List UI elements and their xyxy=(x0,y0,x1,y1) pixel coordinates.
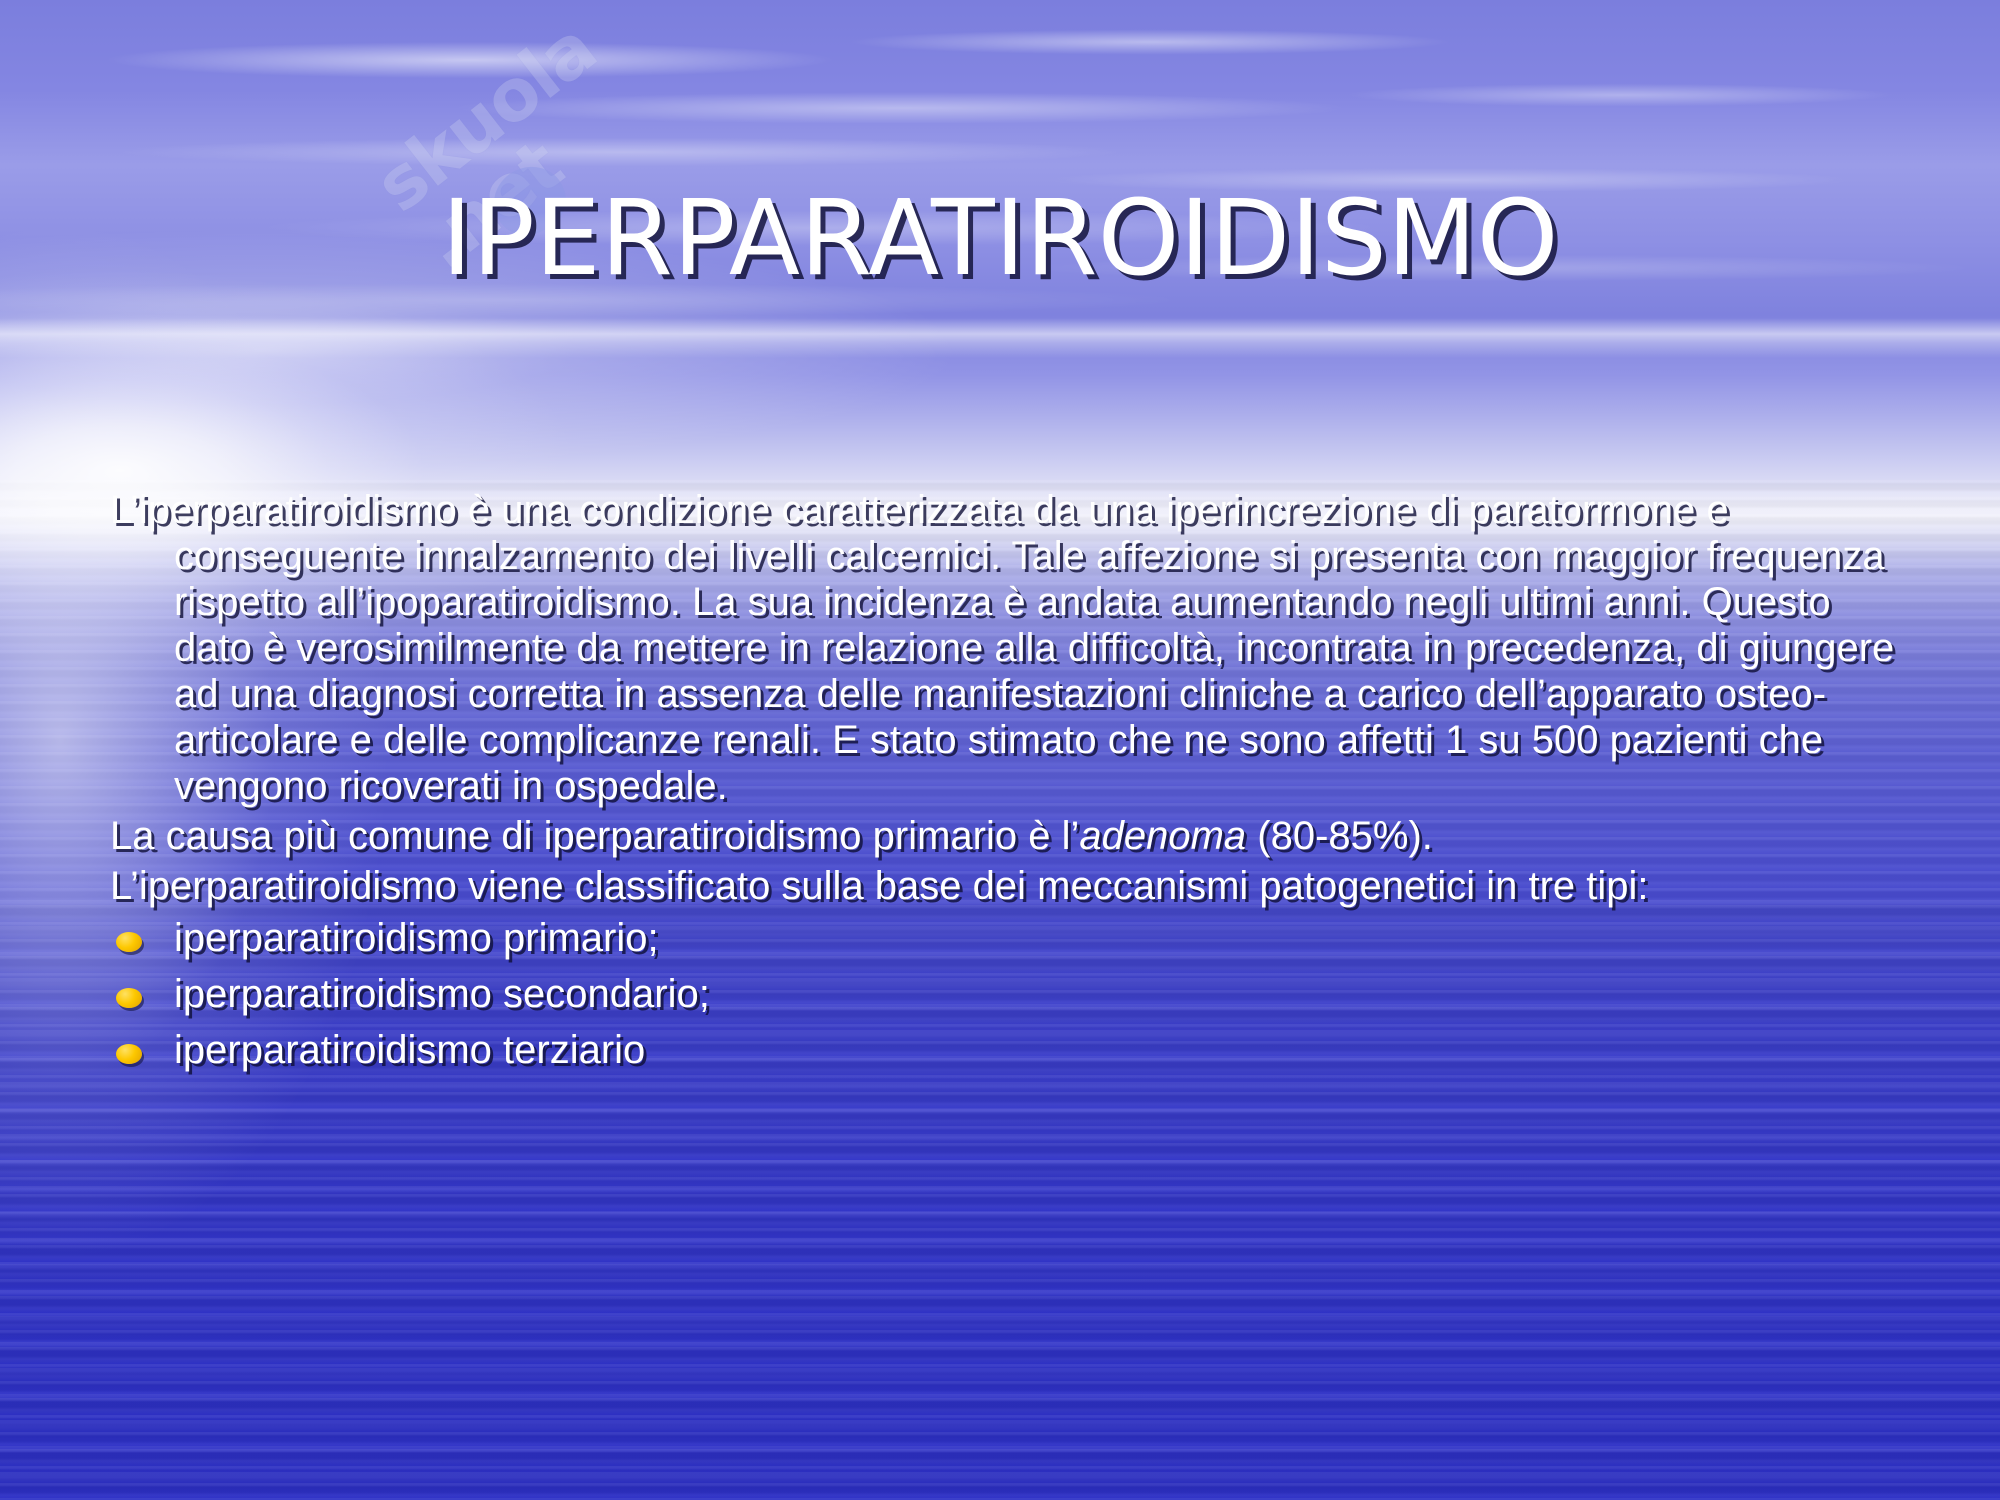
paragraph-classificazione: L’iperparatiroidismo viene classificato … xyxy=(110,863,1910,909)
paragraph-causa-prefix: La causa più comune di iperparatiroidism… xyxy=(110,814,1079,858)
bullet-list: iperparatiroidismo primario; iperparatir… xyxy=(110,915,1910,1073)
bullet-dot-icon xyxy=(116,932,142,952)
list-item-label: iperparatiroidismo primario; xyxy=(174,916,659,960)
list-item: iperparatiroidismo terziario xyxy=(110,1027,1910,1073)
list-item-label: iperparatiroidismo terziario xyxy=(174,1028,645,1072)
paragraph-causa-italic-term: adenoma xyxy=(1079,814,1246,858)
bullet-dot-icon xyxy=(116,988,142,1008)
bullet-dot-icon xyxy=(116,1044,142,1064)
slide-title: IPERPARATIROIDISMO xyxy=(0,182,2000,294)
paragraph-causa: La causa più comune di iperparatiroidism… xyxy=(110,813,1910,859)
presentation-slide: skuola .net IPERPARATIROIDISMO L’iperpar… xyxy=(0,0,2000,1500)
list-item: iperparatiroidismo secondario; xyxy=(110,971,1910,1017)
paragraph-causa-suffix: (80-85%). xyxy=(1246,814,1433,858)
list-item-label: iperparatiroidismo secondario; xyxy=(174,972,710,1016)
paragraph-intro: L’iperparatiroidismo è una condizione ca… xyxy=(110,487,1910,809)
list-item: iperparatiroidismo primario; xyxy=(110,915,1910,961)
slide-body: L’iperparatiroidismo è una condizione ca… xyxy=(110,487,1910,1083)
